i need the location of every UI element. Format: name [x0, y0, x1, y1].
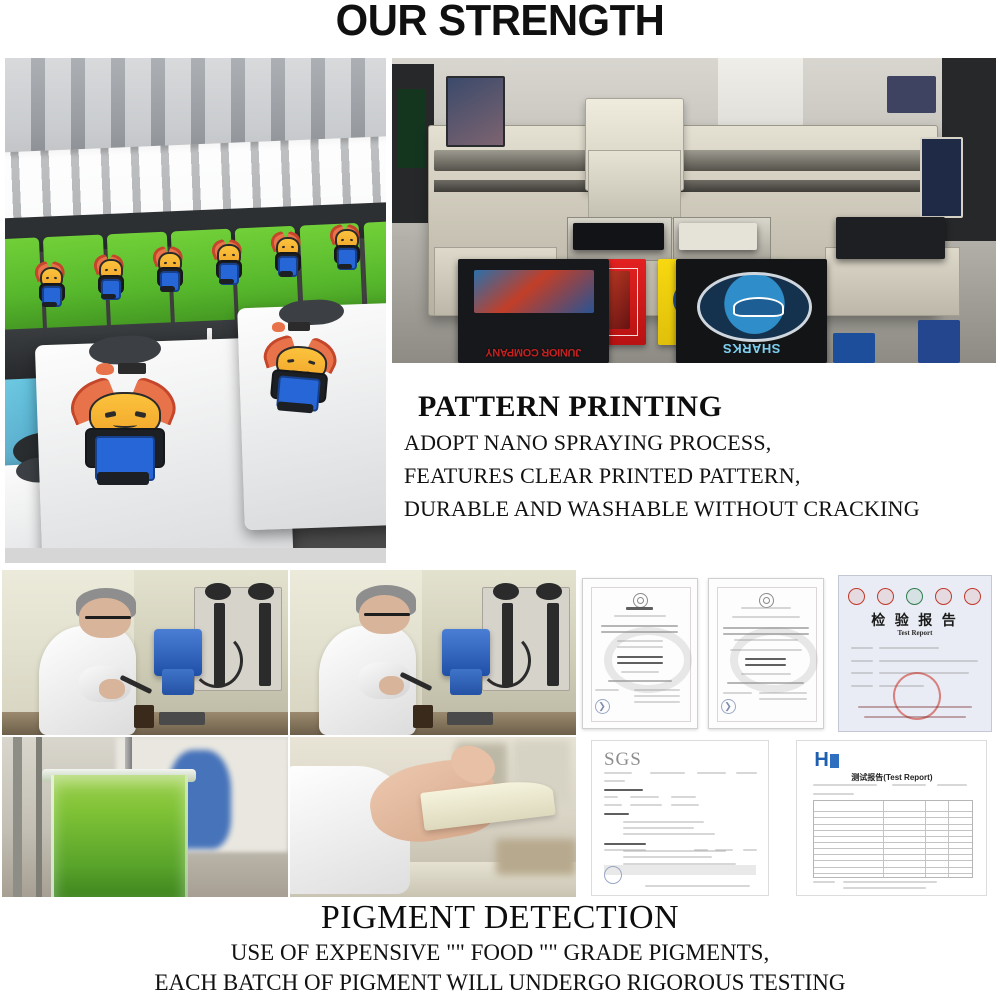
bull-mascot-print — [331, 225, 360, 270]
blue-container — [918, 320, 960, 363]
bench-instrument — [159, 712, 205, 725]
bull-mascot-print — [35, 263, 64, 308]
certificate-iso-2: ❯ — [708, 578, 823, 729]
quality-stamp-icon — [935, 588, 952, 605]
printer-rear-mechanism — [836, 217, 945, 260]
documents-certificates-row: ❯ ❯ — [578, 570, 998, 735]
ccc-stamp-icon — [848, 588, 865, 605]
technician-hand — [379, 676, 405, 696]
blue-bucket — [833, 333, 875, 364]
rig-knob — [536, 583, 562, 600]
rig-shaft — [547, 603, 558, 686]
approval-stamp-icon — [877, 588, 894, 605]
pattern-printing-heading: PATTERN PRINTING — [418, 390, 996, 424]
bull-mascot-print — [95, 255, 124, 300]
technician-hand — [99, 679, 125, 699]
photo-dtg-flatbed-printer: JUNIOR COMPANY SHARKS — [392, 58, 996, 363]
tshirt-black-sharks: SHARKS — [676, 259, 827, 363]
h-logo: H — [814, 749, 838, 772]
sgs-logo: SGS — [604, 749, 642, 771]
bull-mascot-print — [154, 247, 183, 292]
printer-tablet-screen[interactable] — [446, 76, 504, 147]
rig-shaft — [259, 603, 270, 686]
pattern-printing-text-block: PATTERN PRINTING ADOPT NANO SPRAYING PRO… — [392, 372, 996, 560]
tshirt-black-junior-text: JUNIOR COMPANY — [464, 346, 603, 357]
certificate-mark-icon: ❯ — [595, 699, 610, 714]
h-test-report: H 测试报告(Test Report) — [796, 740, 987, 896]
sample-bottle — [413, 705, 433, 728]
stand-post — [36, 737, 42, 897]
bull-mascot-secondary — [261, 335, 336, 416]
photo-screen-printing-carousel — [5, 58, 386, 563]
photo-hand-holding-fabric — [290, 737, 576, 897]
certificate-iso-1: ❯ — [582, 578, 697, 729]
brand-logo-print — [272, 321, 310, 335]
certificate-watermark — [604, 627, 693, 693]
platen-light-insert — [679, 223, 758, 250]
pattern-printing-line-2: FEATURES CLEAR PRINTED PATTERN, — [404, 459, 996, 492]
foreground-tshirt — [237, 302, 386, 531]
sgs-test-report: SGS — [591, 740, 769, 896]
bull-mascot-print — [272, 232, 301, 277]
rig-knob — [493, 583, 519, 600]
lab-hose — [191, 633, 243, 689]
certificate-emblem-icon — [759, 593, 774, 608]
pigment-detection-line-1: USE OF EXPENSIVE "" FOOD "" GRADE PIGMEN… — [0, 938, 1000, 968]
tshirt-black-sharks-text: SHARKS — [682, 342, 821, 355]
documents-test-reports-row: SGS — [578, 737, 998, 897]
photo-lab-technician-2 — [290, 570, 576, 735]
sharks-artwork — [697, 272, 812, 342]
certification-stamps — [848, 587, 981, 607]
green-stamp-icon — [906, 588, 923, 605]
junior-artwork — [474, 270, 595, 314]
shelf-box — [887, 76, 935, 113]
left-green-panel — [398, 89, 425, 168]
sample-bottle — [134, 705, 154, 728]
pigment-detection-text-block: PIGMENT DETECTION USE OF EXPENSIVE "" FO… — [0, 898, 1000, 998]
bull-mascot-large — [74, 381, 173, 487]
blue-mixer-base — [162, 669, 193, 695]
h-report-title: 测试报告(Test Report) — [797, 772, 986, 783]
photo-lab-technician-1 — [2, 570, 288, 735]
pattern-printing-line-1: ADOPT NANO SPRAYING PROCESS, — [404, 426, 996, 459]
pigment-detection-line-2: EACH BATCH OF PIGMENT WILL UNDERGO RIGOR… — [0, 968, 1000, 998]
rig-knob — [205, 583, 231, 600]
technician-glasses — [85, 616, 131, 619]
report-footer-band — [604, 865, 756, 875]
test-report-title: 检 验 报 告 — [839, 610, 990, 630]
sgs-seal-icon — [604, 866, 622, 884]
h-logo-letter: H — [814, 749, 828, 771]
product-detail-page: OUR STRENGTH — [0, 0, 1000, 1000]
pattern-printing-line-3: DURABLE AND WASHABLE WITHOUT CRACKING — [404, 492, 996, 525]
technician-glasses — [364, 613, 410, 616]
safety-stamp-icon — [964, 588, 981, 605]
tshirt-black-junior: JUNIOR COMPANY — [458, 259, 609, 363]
pigment-detection-heading: PIGMENT DETECTION — [0, 898, 1000, 938]
page-title: OUR STRENGTH — [25, 0, 975, 44]
photo-green-pigment-beaker — [2, 737, 288, 897]
certificate-emblem-icon — [633, 593, 648, 608]
test-report-subtitle: Test Report — [839, 629, 990, 637]
shark-jaw-graphic — [733, 297, 785, 318]
bench-instrument — [447, 712, 493, 725]
h-report-data-table — [813, 800, 974, 879]
brand-logo-print — [96, 361, 146, 378]
table-edge — [496, 839, 576, 874]
blue-mixer-base — [450, 669, 481, 695]
platen-dark-insert — [573, 223, 664, 250]
certificate-mark-icon: ❯ — [721, 699, 736, 714]
floor-strip — [5, 548, 386, 563]
rig-knob — [248, 583, 274, 600]
beaker-green-liquid — [51, 775, 189, 897]
stand-post — [13, 737, 22, 897]
test-report-chinese: 检 验 报 告 Test Report — [838, 575, 991, 732]
lab-hose — [479, 633, 531, 689]
bull-mascot-print — [213, 240, 242, 285]
printer-control-panel[interactable] — [920, 137, 963, 217]
printer-print-head-lower — [588, 150, 681, 219]
